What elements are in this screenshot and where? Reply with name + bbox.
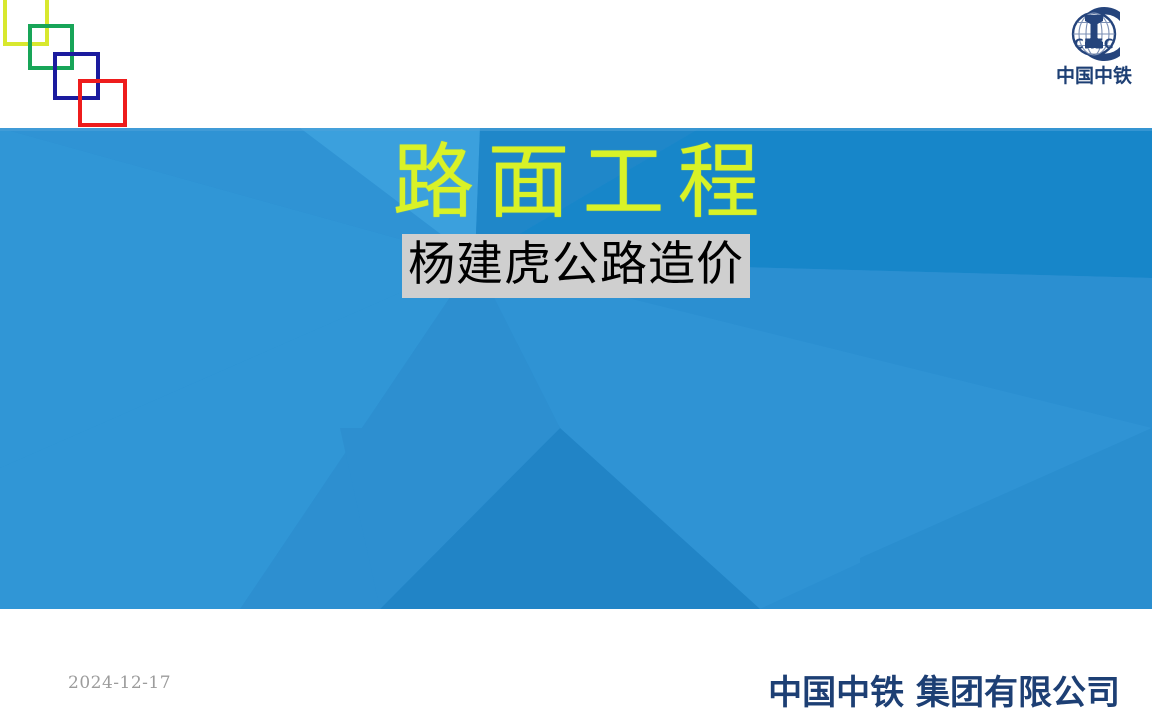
svg-text:CREC: CREC xyxy=(1074,38,1114,53)
slide-date: 2024-12-17 xyxy=(68,673,171,693)
title-banner xyxy=(0,128,1152,609)
crec-globe-rail-icon: CREC xyxy=(1058,2,1130,66)
low-poly-background xyxy=(0,128,1152,609)
logo-wordmark: 中国中铁 xyxy=(1042,67,1146,86)
company-logo: CREC 中国中铁 xyxy=(1042,2,1146,94)
company-name-footer: 中国中铁 集团有限公司 xyxy=(768,665,1120,714)
red-square-icon xyxy=(78,79,127,127)
presentation-slide: CREC 中国中铁 路面工程 xyxy=(0,0,1152,720)
